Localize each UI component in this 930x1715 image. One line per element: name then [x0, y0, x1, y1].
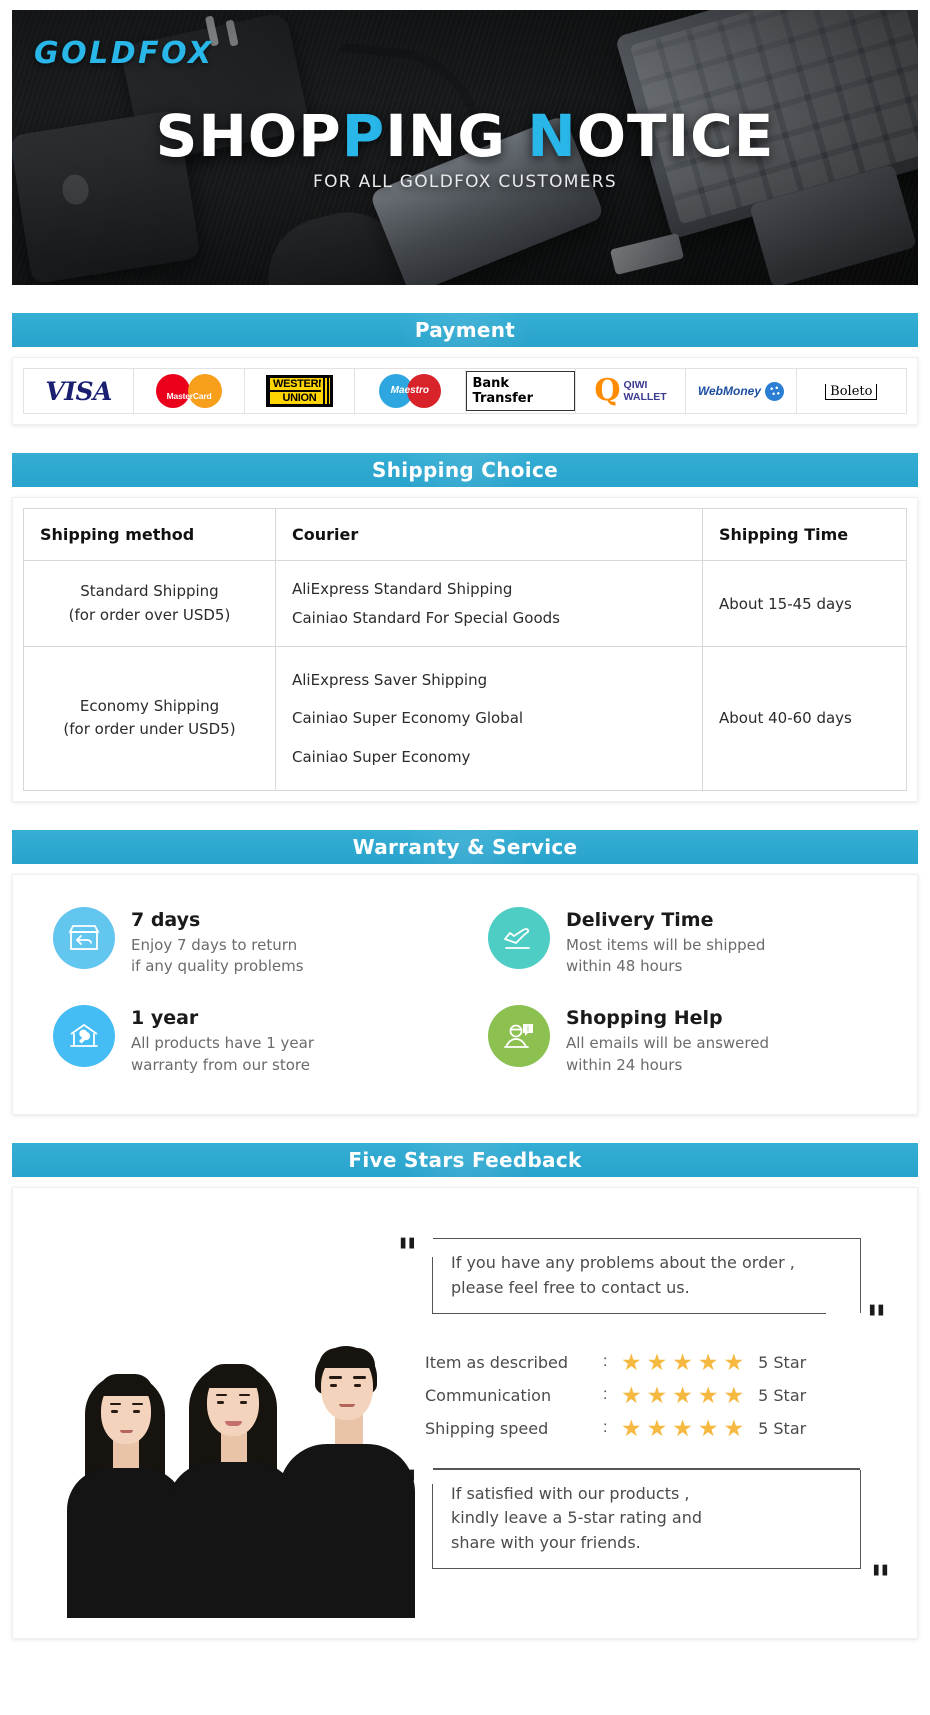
maestro-label: Maestro: [379, 385, 441, 396]
quote-top: " If you have any problems about the ord…: [409, 1238, 883, 1325]
boleto-icon: Boleto: [825, 382, 877, 400]
star-icon: ★: [647, 1351, 668, 1374]
mouth: [339, 1404, 355, 1407]
warranty-text-return: 7 days Enjoy 7 days to return if any qua…: [131, 907, 304, 978]
star-icon: ★: [672, 1384, 693, 1407]
rating-label: Item as described: [425, 1353, 603, 1372]
maestro-icon: Maestro: [379, 374, 441, 408]
courier-item: Cainiao Standard For Special Goods: [292, 604, 686, 633]
section-header-warranty: Warranty & Service: [12, 830, 918, 864]
warranty-cards-grid: 7 days Enjoy 7 days to return if any qua…: [23, 885, 907, 1104]
feedback-right-column: " If you have any problems about the ord…: [405, 1204, 897, 1618]
rating-colon: :: [603, 1386, 617, 1404]
cell-method-economy: Economy Shipping (for order under USD5): [24, 647, 276, 791]
section-header-payment: Payment: [12, 313, 918, 347]
warranty-desc: All emails will be answered within 24 ho…: [566, 1033, 769, 1076]
rating-value: 5 Star: [758, 1419, 806, 1438]
table-row: Economy Shipping (for order under USD5) …: [24, 647, 907, 791]
cell-time-standard: About 15-45 days: [703, 561, 907, 647]
eye-right: [133, 1410, 140, 1413]
hero-title-part-3: ING: [385, 102, 527, 170]
qiwi-line2: WALLET: [624, 391, 667, 403]
star-icon: ★: [672, 1417, 693, 1440]
warranty-card-help: i Shopping Help All emails will be answe…: [474, 997, 891, 1086]
payment-method-qiwi-wallet[interactable]: Q QIWI WALLET: [576, 368, 686, 414]
star-icon: ★: [672, 1351, 693, 1374]
star-icon: ★: [698, 1384, 719, 1407]
warranty-desc-line2: within 48 hours: [566, 957, 682, 975]
return-box-icon: [53, 907, 115, 969]
western-union-icon: WESTERN UNION: [266, 375, 333, 407]
hero-title-part-4: N: [527, 102, 577, 170]
quote-top-text: If you have any problems about the order…: [433, 1238, 861, 1313]
eye-left: [111, 1410, 118, 1413]
cell-courier-economy: AliExpress Saver Shipping Cainiao Super …: [276, 647, 703, 791]
star-rating: ★ ★ ★ ★ ★: [621, 1384, 744, 1407]
boleto-label: Boleto: [825, 384, 877, 400]
mastercard-label: MasterCard: [156, 391, 222, 401]
rating-list: Item as described : ★ ★ ★ ★ ★ 5 Star Com…: [425, 1351, 883, 1440]
quote-bottom-line1: If satisfied with our products ,: [451, 1484, 689, 1503]
quote-bottom-text: If satisfied with our products , kindly …: [433, 1470, 861, 1569]
brow-right: [353, 1376, 366, 1379]
warranty-wrench-icon: [53, 1005, 115, 1067]
brow-left: [329, 1376, 342, 1379]
quote-close-icon: ": [870, 1561, 891, 1601]
payment-panel: VISA MasterCard WESTERN UNION: [12, 357, 918, 425]
warranty-desc-line1: All products have 1 year: [131, 1034, 314, 1052]
method-line1: Economy Shipping: [40, 695, 259, 718]
rating-row-item-described: Item as described : ★ ★ ★ ★ ★ 5 Star: [425, 1351, 883, 1374]
warranty-title: Delivery Time: [566, 909, 765, 931]
hero-title: SHOPPING NOTICE: [12, 102, 918, 170]
quote-bottom-line3: share with your friends.: [451, 1533, 641, 1552]
section-header-feedback: Five Stars Feedback: [12, 1143, 918, 1177]
courier-item: AliExpress Saver Shipping: [292, 661, 686, 699]
warranty-card-delivery: Delivery Time Most items will be shipped…: [474, 899, 891, 988]
warranty-desc: Most items will be shipped within 48 hou…: [566, 935, 765, 978]
warranty-text-delivery: Delivery Time Most items will be shipped…: [566, 907, 765, 978]
staff-person-right: [279, 1346, 415, 1618]
quote-open-icon: ": [397, 1234, 418, 1274]
quote-top-line1: If you have any problems about the order…: [451, 1253, 795, 1272]
warranty-card-oneyear: 1 year All products have 1 year warranty…: [39, 997, 456, 1086]
webmoney-icon: WebMoney: [698, 382, 784, 401]
courier-item: Cainiao Super Economy: [292, 738, 686, 776]
hero-subtitle: FOR ALL GOLDFOX CUSTOMERS: [12, 172, 918, 192]
eye-right: [240, 1401, 247, 1404]
star-icon: ★: [698, 1417, 719, 1440]
svg-text:i: i: [527, 1025, 529, 1034]
support-agent-icon: i: [488, 1005, 550, 1067]
warranty-desc-line2: within 24 hours: [566, 1056, 682, 1074]
hero-title-part-5: OTICE: [577, 102, 775, 170]
warranty-panel: 7 days Enjoy 7 days to return if any qua…: [12, 874, 918, 1115]
mastercard-icon: MasterCard: [156, 374, 222, 408]
hero-title-part-2: P: [342, 102, 386, 170]
payment-method-boleto[interactable]: Boleto: [797, 368, 907, 414]
hair-front: [99, 1374, 153, 1396]
quote-close-icon: ": [866, 1301, 887, 1341]
rating-row-communication: Communication : ★ ★ ★ ★ ★ 5 Star: [425, 1384, 883, 1407]
eye-left: [330, 1384, 337, 1387]
bank-transfer-icon: Bank Transfer: [466, 371, 575, 411]
warranty-title: 7 days: [131, 909, 304, 931]
cell-time-economy: About 40-60 days: [703, 647, 907, 791]
quote-top-line2: please feel free to contact us.: [451, 1278, 690, 1297]
payment-method-webmoney[interactable]: WebMoney: [686, 368, 796, 414]
star-rating: ★ ★ ★ ★ ★: [621, 1351, 744, 1374]
payment-method-western-union[interactable]: WESTERN UNION: [245, 368, 355, 414]
rating-label: Shipping speed: [425, 1419, 603, 1438]
star-icon: ★: [698, 1351, 719, 1374]
visa-icon: VISA: [45, 377, 112, 406]
polo-shirt: [279, 1444, 415, 1618]
warranty-title: Shopping Help: [566, 1007, 769, 1029]
webmoney-label: WebMoney: [698, 384, 761, 398]
courier-item: Cainiao Super Economy Global: [292, 699, 686, 737]
warranty-desc-line1: Most items will be shipped: [566, 936, 765, 954]
mouth-smile: [225, 1421, 242, 1426]
section-header-shipping: Shipping Choice: [12, 453, 918, 487]
team-photo: [33, 1204, 405, 1618]
webmoney-globe-icon: [765, 382, 784, 401]
table-header-row: Shipping method Courier Shipping Time: [24, 509, 907, 561]
warranty-card-return: 7 days Enjoy 7 days to return if any qua…: [39, 899, 456, 988]
shipping-table: Shipping method Courier Shipping Time St…: [23, 508, 907, 791]
warranty-desc-line1: All emails will be answered: [566, 1034, 769, 1052]
star-icon: ★: [724, 1384, 745, 1407]
table-row: Standard Shipping (for order over USD5) …: [24, 561, 907, 647]
rating-value: 5 Star: [758, 1386, 806, 1405]
western-union-bars: [321, 378, 330, 404]
quote-bottom-line2: kindly leave a 5-star rating and: [451, 1508, 702, 1527]
feedback-content: " If you have any problems about the ord…: [23, 1198, 907, 1628]
qiwi-text: QIWI WALLET: [624, 379, 667, 403]
table-header-time: Shipping Time: [703, 509, 907, 561]
payment-method-visa[interactable]: VISA: [23, 368, 134, 414]
airplane-icon: [488, 907, 550, 969]
method-line2: (for order under USD5): [40, 718, 259, 741]
hair-front: [205, 1364, 261, 1388]
warranty-desc-line1: Enjoy 7 days to return: [131, 936, 297, 954]
star-icon: ★: [724, 1417, 745, 1440]
rating-value: 5 Star: [758, 1353, 806, 1372]
warranty-title: 1 year: [131, 1007, 314, 1029]
rating-row-shipping-speed: Shipping speed : ★ ★ ★ ★ ★ 5 Star: [425, 1417, 883, 1440]
rating-colon: :: [603, 1353, 617, 1371]
brand-logo: GOLDFOX: [34, 36, 214, 71]
star-icon: ★: [621, 1351, 642, 1374]
star-icon: ★: [621, 1417, 642, 1440]
payment-method-bank-transfer[interactable]: Bank Transfer: [466, 368, 576, 414]
hero-title-part-1: SHOP: [156, 102, 342, 170]
quote-bottom: " If satisfied with our products , kindl…: [409, 1470, 883, 1581]
feedback-panel: " If you have any problems about the ord…: [12, 1187, 918, 1639]
shipping-panel: Shipping method Courier Shipping Time St…: [12, 497, 918, 802]
star-icon: ★: [621, 1384, 642, 1407]
shopping-notice-page: GOLDFOX SHOPPING NOTICE FOR ALL GOLDFOX …: [0, 0, 930, 1657]
cell-method-standard: Standard Shipping (for order over USD5): [24, 561, 276, 647]
warranty-text-oneyear: 1 year All products have 1 year warranty…: [131, 1005, 314, 1076]
warranty-desc-line2: if any quality problems: [131, 957, 304, 975]
qiwi-icon: Q QIWI WALLET: [594, 379, 666, 403]
table-header-method: Shipping method: [24, 509, 276, 561]
star-icon: ★: [647, 1417, 668, 1440]
cell-courier-standard: AliExpress Standard Shipping Cainiao Sta…: [276, 561, 703, 647]
hair-front: [319, 1348, 375, 1368]
hero-banner: GOLDFOX SHOPPING NOTICE FOR ALL GOLDFOX …: [12, 10, 918, 285]
star-icon: ★: [724, 1351, 745, 1374]
payment-methods-row: VISA MasterCard WESTERN UNION: [23, 368, 907, 414]
warranty-text-help: Shopping Help All emails will be answere…: [566, 1005, 769, 1076]
warranty-desc-line2: warranty from our store: [131, 1056, 310, 1074]
warranty-desc: All products have 1 year warranty from o…: [131, 1033, 314, 1076]
method-line1: Standard Shipping: [40, 580, 259, 603]
payment-method-mastercard[interactable]: MasterCard: [134, 368, 244, 414]
courier-item: AliExpress Standard Shipping: [292, 575, 686, 604]
star-rating: ★ ★ ★ ★ ★: [621, 1417, 744, 1440]
eye-left: [217, 1401, 224, 1404]
table-header-courier: Courier: [276, 509, 703, 561]
eye-right: [354, 1384, 361, 1387]
mouth: [120, 1430, 133, 1433]
star-icon: ★: [647, 1384, 668, 1407]
rating-colon: :: [603, 1419, 617, 1437]
payment-method-maestro[interactable]: Maestro: [355, 368, 465, 414]
qiwi-mark: Q: [594, 379, 620, 403]
rating-label: Communication: [425, 1386, 603, 1405]
warranty-desc: Enjoy 7 days to return if any quality pr…: [131, 935, 304, 978]
qiwi-line1: QIWI: [624, 379, 648, 391]
method-line2: (for order over USD5): [40, 604, 259, 627]
